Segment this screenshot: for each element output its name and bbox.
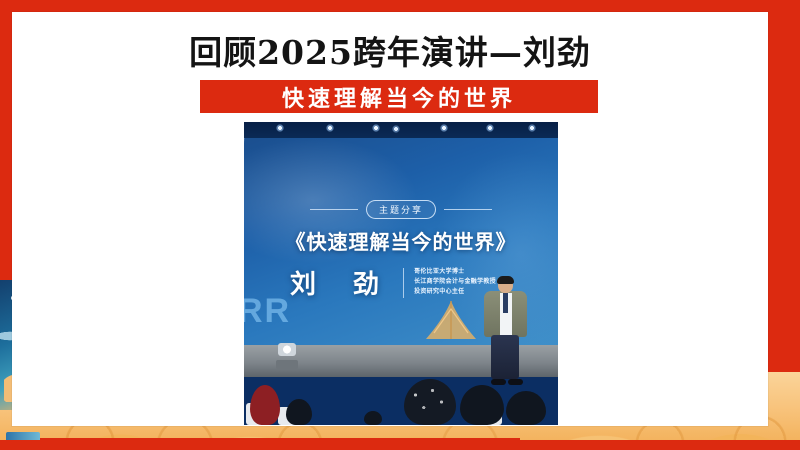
presenter-figure xyxy=(478,277,532,385)
screen-talk-title: 《快速理解当今的世界》 xyxy=(244,226,558,255)
presenter-tie xyxy=(503,293,508,313)
stage-light-head xyxy=(278,343,296,356)
topic-badge-row: 主题分享 xyxy=(244,200,558,219)
bottom-red-strip-decoration xyxy=(0,440,800,450)
audience-head xyxy=(506,391,546,425)
topic-badge: 主题分享 xyxy=(366,200,436,219)
audience-head xyxy=(404,379,456,425)
poster-root: 回顾2025跨年演讲—刘劲 快速理解当今的世界 主题分享 《快速理解当今的世界》… xyxy=(0,0,800,450)
audience-head xyxy=(364,411,382,425)
page-title: 回顾2025跨年演讲—刘劲 xyxy=(12,26,768,74)
stage-light-base xyxy=(276,360,298,369)
audience-head xyxy=(286,399,312,425)
audience-row xyxy=(244,373,558,425)
subtitle-banner: 快速理解当今的世界 xyxy=(200,80,598,113)
speaker-name: 刘 劲 xyxy=(290,264,393,301)
audience-head xyxy=(250,385,280,425)
speaker-identity-block: 刘 劲 哥伦比亚大学博士 长江商学院会计与金融学教授 投资研究中心主任 xyxy=(290,264,496,301)
stage-photo: 主题分享 《快速理解当今的世界》 刘 劲 哥伦比亚大学博士 长江商学院会计与金融… xyxy=(244,122,558,425)
topic-rule-right xyxy=(444,209,492,210)
led-truss-lights xyxy=(244,122,558,138)
stage-light-icon xyxy=(276,343,298,369)
credential-line-1: 哥伦比亚大学博士 xyxy=(414,268,496,277)
topic-rule-left xyxy=(310,209,358,210)
credential-divider xyxy=(403,268,404,298)
presenter-hair xyxy=(497,276,514,284)
wall-background-glyphs: RR xyxy=(244,292,291,331)
audience-head xyxy=(460,385,504,425)
content-card: 回顾2025跨年演讲—刘劲 快速理解当今的世界 主题分享 《快速理解当今的世界》… xyxy=(12,12,768,426)
bridge-graphic-icon xyxy=(422,299,480,341)
subtitle-banner-text: 快速理解当今的世界 xyxy=(282,81,516,113)
